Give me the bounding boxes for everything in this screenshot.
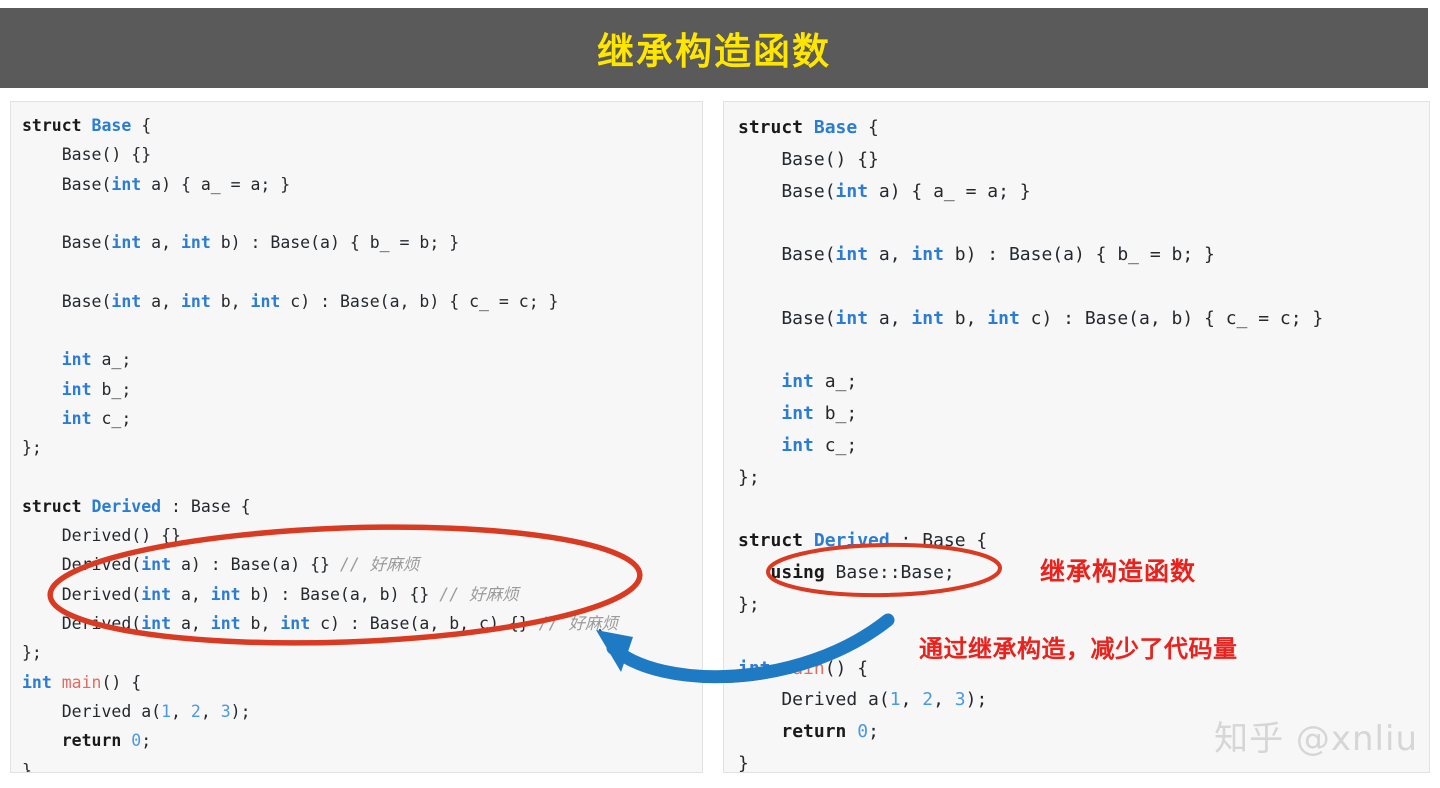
code-line (738, 494, 1323, 526)
code-line: int b_; (738, 398, 1323, 430)
code-token (846, 721, 857, 742)
code-token: b) : Base(a) { b_ = b; } (944, 244, 1215, 265)
code-token: a, (171, 585, 211, 604)
code-line: Derived(int a) : Base(a) {} // 好麻烦 (22, 550, 618, 579)
code-token: Base( (738, 308, 836, 329)
code-token: b, (241, 614, 281, 633)
code-token (121, 731, 131, 750)
code-token (738, 721, 781, 742)
code-token (771, 658, 782, 679)
code-token: main (62, 673, 102, 692)
code-token: Base( (22, 175, 111, 194)
code-token: , (901, 689, 923, 710)
code-token: int (781, 403, 814, 424)
code-token: int (62, 380, 92, 399)
code-line: struct Base { (22, 111, 618, 140)
code-token: int (911, 308, 944, 329)
code-token: a, (868, 244, 911, 265)
code-line: int a_; (22, 345, 618, 374)
code-token: int (62, 350, 92, 369)
code-token: int (836, 308, 869, 329)
code-line: Derived a(1, 2, 3); (22, 697, 618, 726)
code-token: Base() {} (22, 145, 151, 164)
code-token: a, (868, 308, 911, 329)
code-token: a) : Base(a) {} (171, 555, 340, 574)
code-token: 0 (857, 721, 868, 742)
code-token: Base( (738, 244, 836, 265)
code-token: int (211, 614, 241, 633)
code-line: Base(int a, int b) : Base(a) { b_ = b; } (738, 239, 1323, 271)
code-token: using (771, 562, 825, 583)
code-token: Base::Base; (825, 562, 955, 583)
code-token: struct (22, 116, 92, 135)
code-token: a, (141, 292, 181, 311)
code-token: ); (231, 702, 251, 721)
code-panel-inherited: struct Base { Base() {} Base(int a) { a_… (723, 101, 1430, 773)
code-line: Base() {} (22, 140, 618, 169)
code-line: return 0; (22, 726, 618, 755)
code-token: Derived (814, 530, 890, 551)
code-token: // 好麻烦 (539, 614, 618, 633)
code-token: // 好麻烦 (340, 555, 419, 574)
code-token: 1 (890, 689, 901, 710)
code-line (22, 316, 618, 345)
code-token: () { (102, 673, 142, 692)
code-line: using Base::Base; (738, 557, 1323, 589)
code-line: Derived() {} (22, 521, 618, 550)
code-token: 1 (161, 702, 171, 721)
code-token: : Base { (161, 497, 250, 516)
code-line: Base() {} (738, 144, 1323, 176)
code-block-verbose: struct Base { Base() {} Base(int a) { a_… (22, 111, 618, 773)
code-line (738, 335, 1323, 367)
code-token: Base() {} (738, 149, 879, 170)
code-token: Base (814, 117, 857, 138)
code-token: ; (141, 731, 151, 750)
code-token: { (857, 117, 879, 138)
code-token (738, 403, 781, 424)
code-token: 2 (922, 689, 933, 710)
code-token (22, 380, 62, 399)
code-token: struct (738, 530, 814, 551)
code-token: int (781, 435, 814, 456)
code-line: Base(int a, int b, int c) : Base(a, b) {… (738, 303, 1323, 335)
code-token: Base (92, 116, 132, 135)
code-token: b_; (92, 380, 132, 399)
code-token: }; (738, 594, 760, 615)
code-line (738, 271, 1323, 303)
annotation-less-code-label: 通过继承构造，减少了代码量 (919, 629, 1238, 664)
code-token: int (22, 673, 52, 692)
code-token: b, (944, 308, 987, 329)
code-line (22, 257, 618, 286)
code-token: b) : Base(a) { b_ = b; } (211, 233, 459, 252)
code-line: Derived(int a, int b, int c) : Base(a, b… (22, 609, 618, 638)
code-token: , (933, 689, 955, 710)
code-line (22, 199, 618, 228)
code-line: struct Derived : Base { (738, 525, 1323, 557)
code-line: struct Derived : Base { (22, 492, 618, 521)
code-token (22, 731, 62, 750)
code-token: int (781, 371, 814, 392)
code-line: int b_; (22, 375, 618, 404)
code-token: Derived (92, 497, 162, 516)
code-token: b) : Base(a, b) {} (241, 585, 440, 604)
code-line: Derived(int a, int b) : Base(a, b) {} //… (22, 580, 618, 609)
code-token: c) : Base(a, b) { c_ = c; } (1020, 308, 1323, 329)
code-token: : Base { (890, 530, 988, 551)
code-token: int (141, 585, 171, 604)
code-token: }; (22, 438, 42, 457)
code-token: } (738, 753, 749, 773)
code-token: Derived a( (22, 702, 161, 721)
code-token: Base( (22, 233, 111, 252)
code-token: c) : Base(a, b) { c_ = c; } (280, 292, 558, 311)
code-token: int (111, 175, 141, 194)
code-token (738, 371, 781, 392)
code-token (738, 562, 771, 583)
code-token: int (111, 292, 141, 311)
code-line: }; (738, 462, 1323, 494)
code-token: int (251, 292, 281, 311)
code-token: int (836, 244, 869, 265)
code-line: Base(int a, int b) : Base(a) { b_ = b; } (22, 228, 618, 257)
code-token: Base( (738, 181, 836, 202)
code-token: ); (966, 689, 988, 710)
slide-title-bar: 继承构造函数 (0, 8, 1428, 88)
code-token: b_; (814, 403, 857, 424)
code-line: int c_; (22, 404, 618, 433)
code-token: return (62, 731, 122, 750)
annotation-inherited-constructor-label: 继承构造函数 (1040, 552, 1196, 588)
code-token: a) { a_ = a; } (868, 181, 1031, 202)
code-line: }; (22, 638, 618, 667)
code-token: a_; (92, 350, 132, 369)
code-token (22, 350, 62, 369)
code-line: } (22, 756, 618, 773)
code-token: a) { a_ = a; } (141, 175, 290, 194)
code-token (738, 435, 781, 456)
code-token: Derived a( (738, 689, 890, 710)
code-line: Base(int a) { a_ = a; } (738, 176, 1323, 208)
code-token: main (781, 658, 824, 679)
code-line: int main() { (22, 668, 618, 697)
code-token: int (141, 555, 171, 574)
code-panel-verbose: struct Base { Base() {} Base(int a) { a_… (10, 101, 703, 773)
code-token: struct (738, 117, 814, 138)
code-token: int (62, 409, 92, 428)
code-token: Derived() {} (22, 526, 181, 545)
code-token: int (141, 614, 171, 633)
code-token: , (171, 702, 191, 721)
code-token: }; (22, 643, 42, 662)
code-line: Base(int a) { a_ = a; } (22, 170, 618, 199)
code-token: 3 (955, 689, 966, 710)
code-token (52, 673, 62, 692)
code-token: return (781, 721, 846, 742)
code-token: a_; (814, 371, 857, 392)
code-token: ; (868, 721, 879, 742)
code-token: int (911, 244, 944, 265)
code-token: } (22, 761, 32, 773)
page-title: 继承构造函数 (597, 21, 831, 75)
code-token: }; (738, 467, 760, 488)
code-token: a, (171, 614, 211, 633)
code-block-inherited: struct Base { Base() {} Base(int a) { a_… (738, 112, 1323, 773)
code-token: , (201, 702, 221, 721)
code-line: }; (738, 589, 1323, 621)
code-token: Derived( (22, 585, 141, 604)
code-line: }; (22, 433, 618, 462)
code-token: Base( (22, 292, 111, 311)
code-token: int (987, 308, 1020, 329)
code-token: int (280, 614, 310, 633)
code-line (22, 463, 618, 492)
code-line: int a_; (738, 366, 1323, 398)
code-token: a, (141, 233, 181, 252)
code-token: 2 (191, 702, 201, 721)
code-token: int (836, 181, 869, 202)
code-token: 0 (131, 731, 141, 750)
code-token: { (131, 116, 151, 135)
code-token: int (211, 585, 241, 604)
code-token (22, 409, 62, 428)
code-token: int (738, 658, 771, 679)
code-token: int (111, 233, 141, 252)
code-token: b, (211, 292, 251, 311)
code-token: Derived( (22, 614, 141, 633)
code-token: int (181, 233, 211, 252)
code-line (738, 207, 1323, 239)
code-token: struct (22, 497, 92, 516)
watermark: 知乎 @xnliu (1214, 711, 1418, 760)
code-token: c_; (92, 409, 132, 428)
code-token: Derived( (22, 555, 141, 574)
code-line: struct Base { (738, 112, 1323, 144)
code-token: () { (825, 658, 868, 679)
code-token: c) : Base(a, b, c) {} (310, 614, 538, 633)
code-line: Base(int a, int b, int c) : Base(a, b) {… (22, 287, 618, 316)
code-token: int (181, 292, 211, 311)
code-line: int c_; (738, 430, 1323, 462)
code-token: 3 (221, 702, 231, 721)
code-token: c_; (814, 435, 857, 456)
code-token: // 好麻烦 (439, 585, 518, 604)
